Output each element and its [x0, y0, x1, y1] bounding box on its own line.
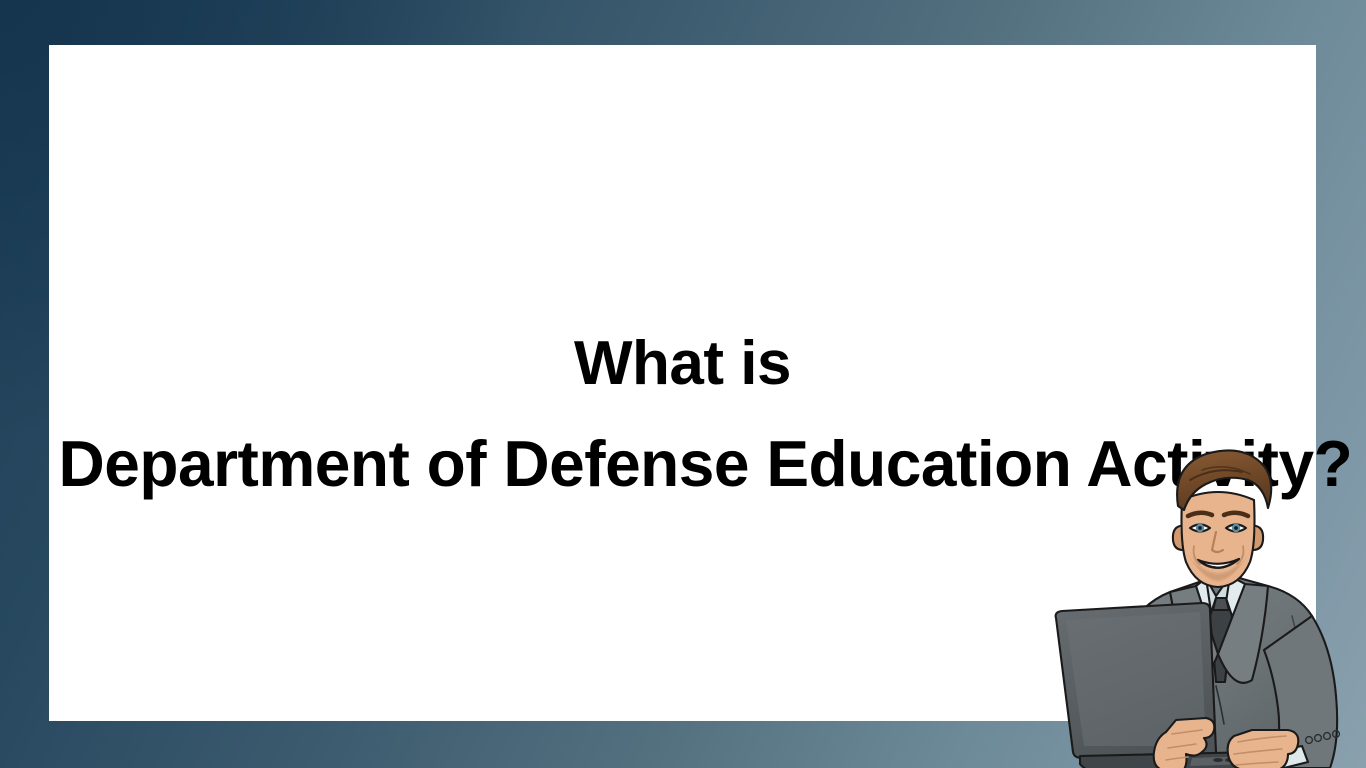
white-content-panel: What is Department of Defense Education …: [49, 45, 1316, 721]
title-line-1: What is: [49, 329, 1316, 399]
slide-canvas: What is Department of Defense Education …: [0, 0, 1366, 768]
title-line-2: Department of Defense Education Activity…: [59, 427, 1307, 501]
